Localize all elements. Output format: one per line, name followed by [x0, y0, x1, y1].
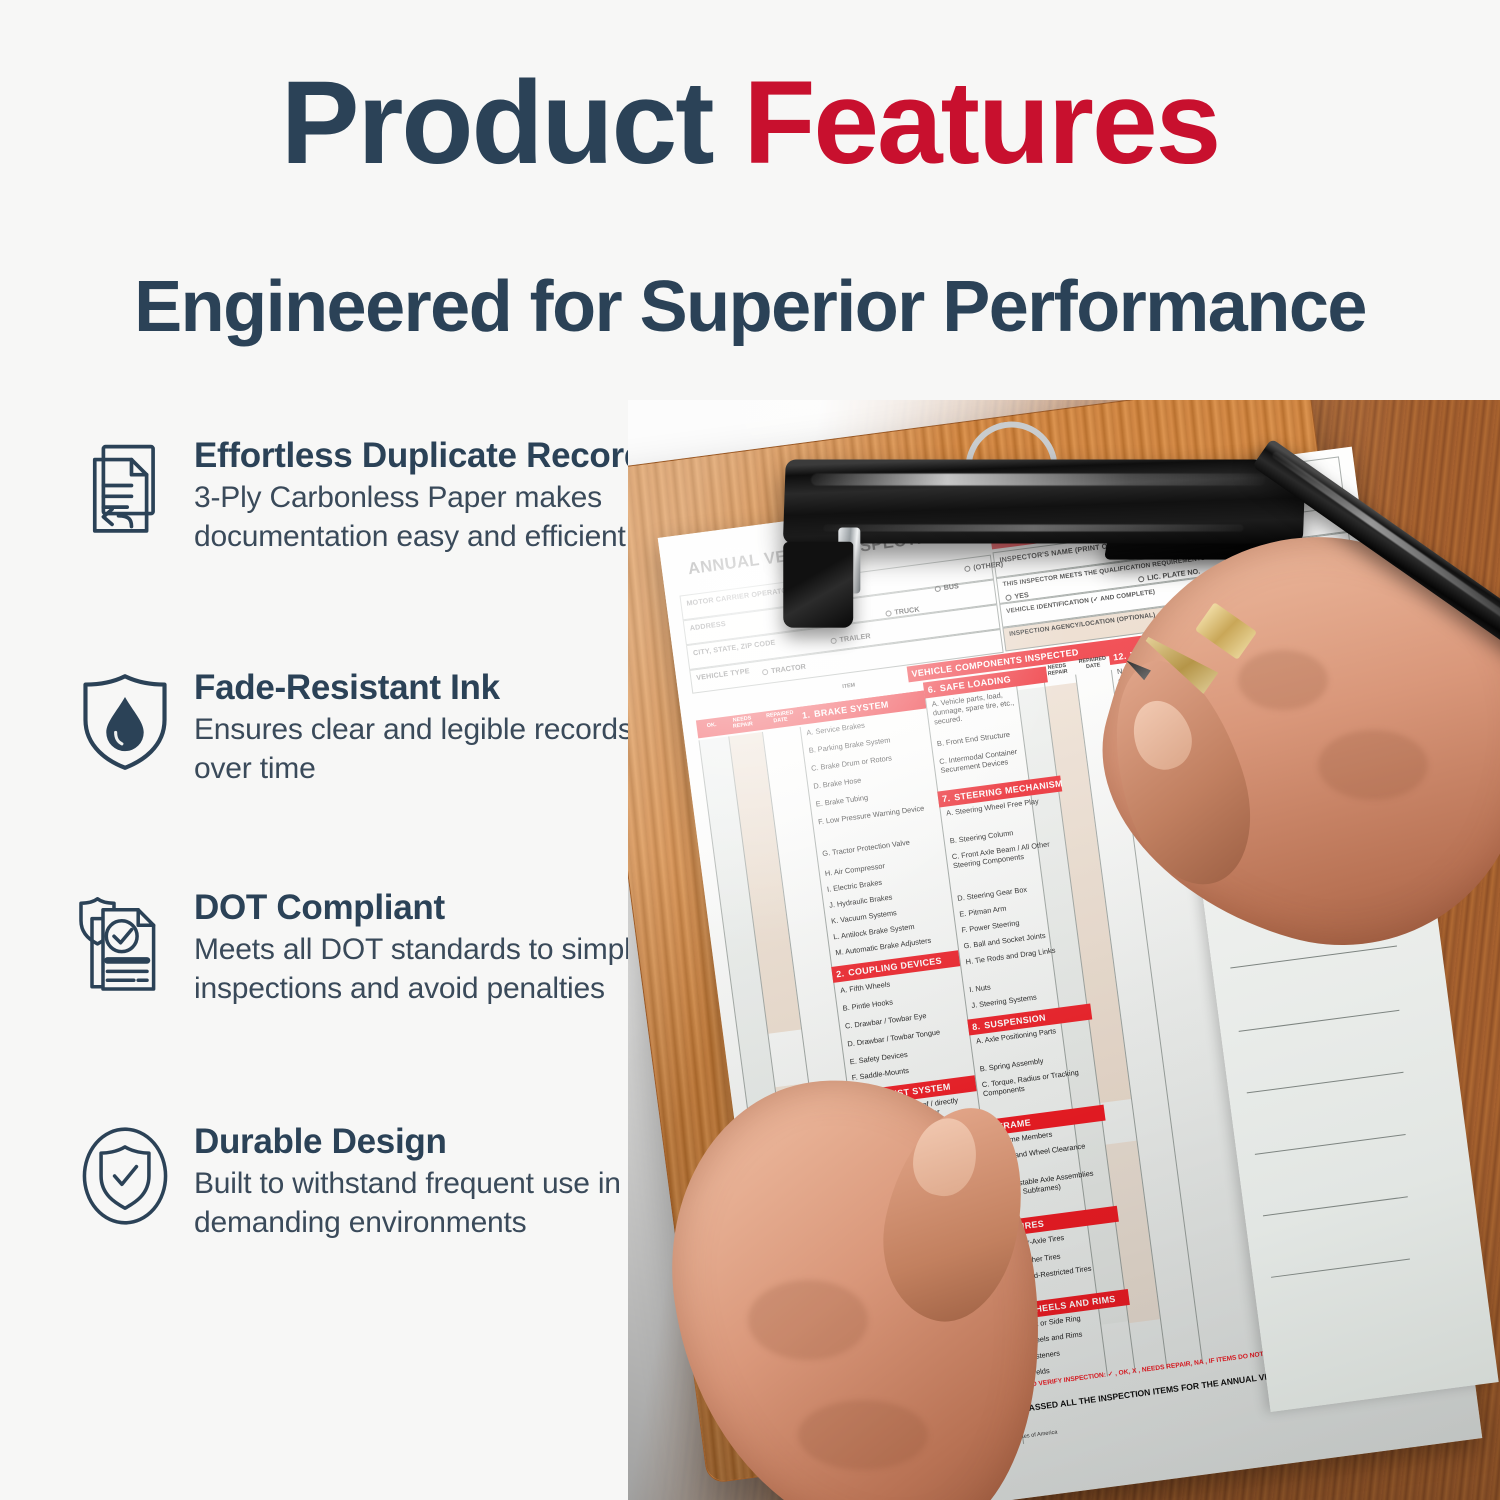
feature-text-block: Effortless Duplicate Records 3-Ply Carbo…	[190, 432, 664, 556]
feature-desc-line2: inspections and avoid penalties	[194, 970, 660, 1008]
item-2c: C. Drawbar / Towbar Eye	[844, 1011, 926, 1031]
page-title: Product Features	[0, 64, 1500, 182]
item-1a: A. Service Brakes	[806, 721, 865, 738]
item-8b: B. Spring Assembly	[979, 1056, 1044, 1073]
item-6b: B. Front End Structure	[936, 726, 1036, 748]
item-1b: B. Parking Brake System	[808, 735, 891, 755]
shield-check-circle-icon	[60, 1118, 190, 1228]
item-7f: F. Power Steering	[961, 918, 1020, 935]
shield-ink-droplet-icon	[60, 664, 190, 774]
col-item-label-left: ITEM	[829, 682, 869, 693]
item-1g: G. Tractor Protection Valve	[822, 838, 911, 858]
feature-desc-line1: Meets all DOT standards to simplify	[194, 931, 660, 969]
item-7c: C. Front Axle Beam / All Other Steering …	[951, 839, 1053, 870]
feature-text-block: DOT Compliant Meets all DOT standards to…	[190, 884, 660, 1008]
product-photo: BUCK U.S. ANNUAL VEHICLE INSPECTION REPO	[628, 400, 1500, 1500]
item-7i: I. Nuts	[969, 982, 991, 994]
feature-desc-line2: documentation easy and efficient	[194, 518, 664, 556]
item-6c: C. Intermodal Container Securement Devic…	[939, 744, 1041, 775]
item-7d: D. Steering Gear Box	[957, 885, 1028, 903]
feature-desc-line1: Built to withstand frequent use in	[194, 1165, 621, 1203]
feature-desc-line1: 3-Ply Carbonless Paper makes	[194, 479, 664, 517]
item-7e: E. Pitman Arm	[959, 904, 1007, 919]
item-2f: F. Saddle-Mounts	[851, 1066, 909, 1082]
item-1f: F. Low Pressure Warning Device	[818, 803, 926, 826]
item-1d: D. Brake Hose	[813, 776, 862, 791]
feature-heading: Fade-Resistant Ink	[194, 668, 633, 707]
title-part-product: Product	[281, 57, 713, 189]
feature-heading: Durable Design	[194, 1122, 621, 1161]
feature-description: Ensures clear and legible records over t…	[194, 711, 633, 788]
feature-item-dot-compliant: DOT Compliant Meets all DOT standards to…	[60, 884, 660, 1008]
item-1i: I. Electric Brakes	[826, 878, 882, 894]
feature-desc-line1: Ensures clear and legible records	[194, 711, 633, 749]
duplicate-documents-icon	[60, 432, 190, 546]
feature-description: 3-Ply Carbonless Paper makes documentati…	[194, 479, 664, 556]
feature-text-block: Fade-Resistant Ink Ensures clear and leg…	[190, 664, 633, 788]
item-1c: C. Brake Drum or Rotors	[811, 753, 893, 773]
feature-heading: DOT Compliant	[194, 888, 660, 927]
infographic-canvas: Product Features Engineered for Superior…	[0, 0, 1500, 1500]
title-part-features: Features	[743, 57, 1219, 189]
item-7j: J. Steering Systems	[971, 992, 1037, 1010]
item-1j: J. Hydraulic Brakes	[829, 892, 893, 909]
feature-item-durable-design: Durable Design Built to withstand freque…	[60, 1118, 621, 1242]
item-1e: E. Brake Tubing	[815, 793, 868, 809]
item-2a: A. Fifth Wheels	[840, 979, 891, 994]
item-1k: K. Vacuum Systems	[831, 908, 898, 926]
item-7b: B. Steering Column	[949, 828, 1014, 845]
feature-item-duplicate-records: Effortless Duplicate Records 3-Ply Carbo…	[60, 432, 664, 556]
clip-main-bar	[783, 460, 1306, 544]
item-2b: B. Pintle Hooks	[842, 997, 893, 1013]
feature-heading: Effortless Duplicate Records	[194, 436, 664, 475]
page-subtitle: Engineered for Superior Performance	[0, 266, 1500, 348]
item-2e: E. Safety Devices	[849, 1050, 908, 1067]
item-2d: D. Drawbar / Towbar Tongue	[847, 1027, 941, 1048]
feature-text-block: Durable Design Built to withstand freque…	[190, 1118, 621, 1242]
section-1-banner: 1. BRAKE SYSTEM	[797, 691, 926, 725]
item-1h: H. Air Compressor	[824, 861, 885, 878]
feature-item-fade-resistant-ink: Fade-Resistant Ink Ensures clear and leg…	[60, 664, 633, 788]
feature-description: Built to withstand frequent use in deman…	[194, 1165, 621, 1242]
feature-desc-line2: demanding environments	[194, 1204, 621, 1242]
col-repaired-date-label-right: REPAIRED DATE	[1075, 656, 1110, 672]
feature-description: Meets all DOT standards to simplify insp…	[194, 931, 660, 1008]
feature-desc-line2: over time	[194, 750, 633, 788]
item-8c: C. Torque, Radius or Tracking Components	[981, 1067, 1083, 1098]
clip-side-bracket	[783, 542, 853, 628]
document-check-shield-icon	[60, 884, 190, 1000]
